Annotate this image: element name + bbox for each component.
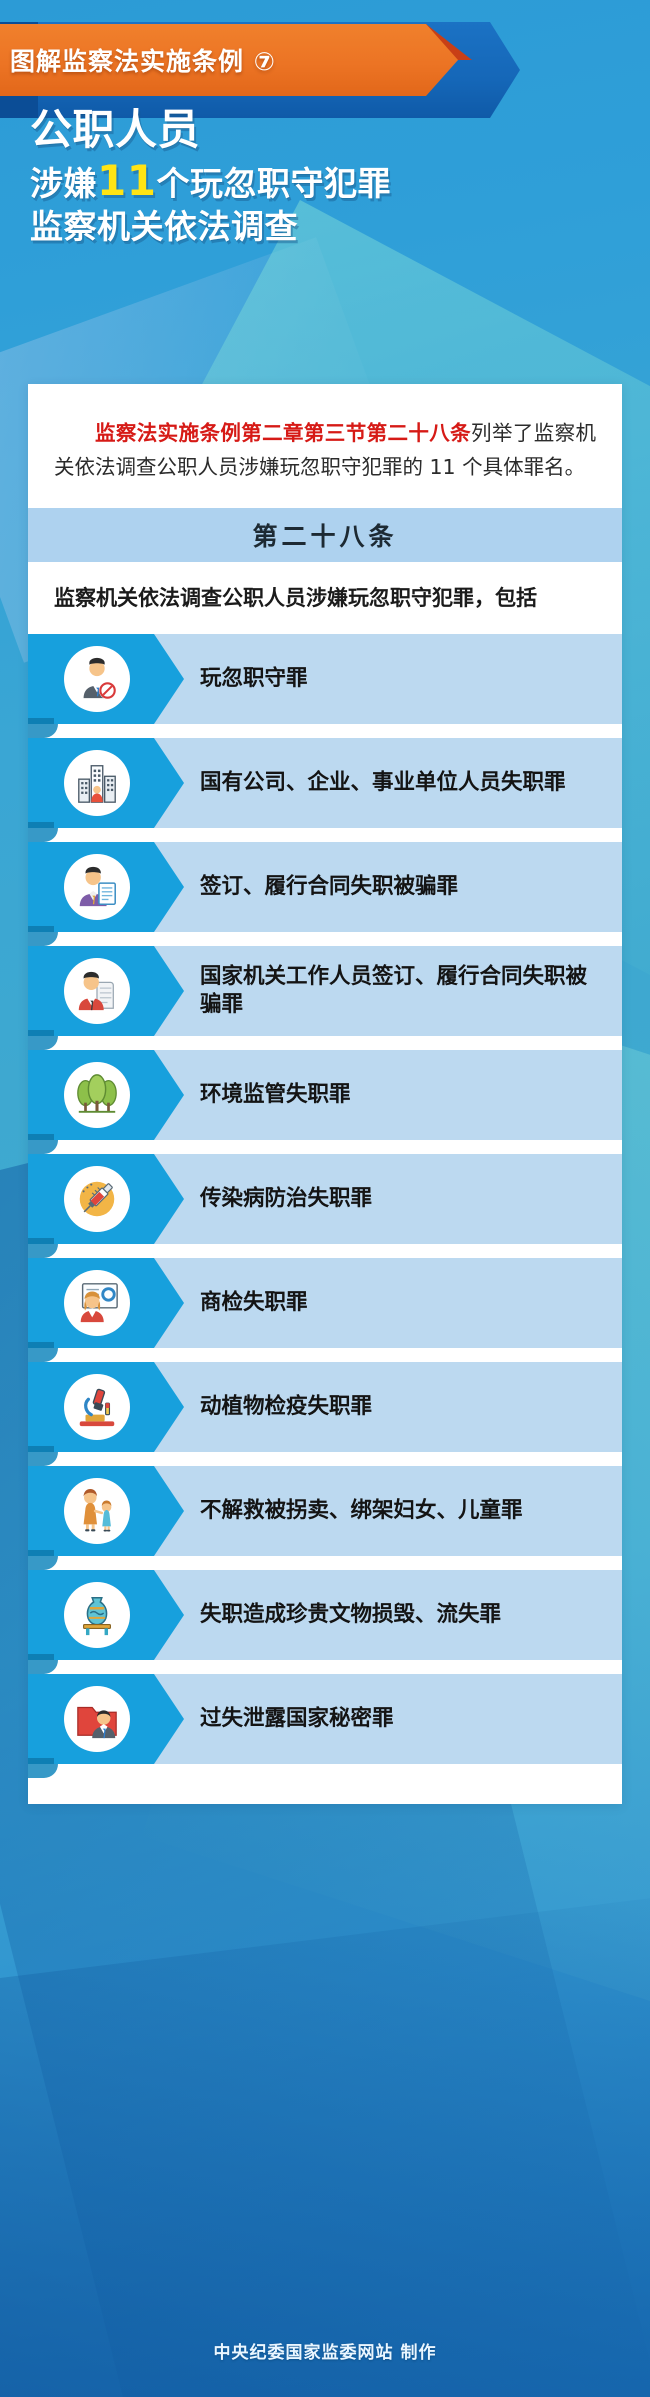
list-item[interactable]: 签订、履行合同失职被骗罪 [28,842,622,932]
list-item-label: 玩忽职守罪 [200,634,608,724]
official-banned-icon [64,646,130,712]
person-document-icon [64,958,130,1024]
headline-line-3: 监察机关依法调查 [30,208,620,246]
list-item-label: 国家机关工作人员签订、履行合同失职被骗罪 [200,946,608,1036]
trees-icon [64,1062,130,1128]
headline-line-2-prefix: 涉嫌 [30,164,97,203]
list-item[interactable]: 动植物检疫失职罪 [28,1362,622,1452]
list-item-label: 失职造成珍贵文物损毁、流失罪 [200,1570,608,1660]
inspector-board-icon [64,1270,130,1336]
list-item-label: 不解救被拐卖、绑架妇女、儿童罪 [200,1466,608,1556]
intro-paragraph: 监察法实施条例第二章第三节第二十八条列举了监察机关依法调查公职人员涉嫌玩忽职守犯… [28,410,622,488]
list-item[interactable]: 失职造成珍贵文物损毁、流失罪 [28,1570,622,1660]
list-item-label: 动植物检疫失职罪 [200,1362,608,1452]
section-header: 第二十八条 [28,508,622,562]
infographic-page: 图解监察法实施条例 ⑦ 公职人员 涉嫌11个玩忽职守犯罪 监察机关依法调查 监察… [0,0,650,2397]
list-item[interactable]: 不解救被拐卖、绑架妇女、儿童罪 [28,1466,622,1556]
list-item-label: 传染病防治失职罪 [200,1154,608,1244]
footer-credit: 中央纪委国家监委网站 制作 [0,2338,650,2363]
headline-line-2-suffix: 个玩忽职守犯罪 [156,164,391,203]
buildings-icon [64,750,130,816]
vase-icon [64,1582,130,1648]
banner-orange-ribbon: 图解监察法实施条例 ⑦ [0,24,458,96]
list-item[interactable]: 环境监管失职罪 [28,1050,622,1140]
woman-child-icon [64,1478,130,1544]
list-item[interactable]: 玩忽职守罪 [28,634,622,724]
headline-line-1: 公职人员 [30,106,620,155]
banner-title: 图解监察法实施条例 ⑦ [0,42,276,78]
headline-count: 11 [97,156,156,205]
offence-list: 玩忽职守罪 国有公司、企业、事业单位人员失职罪 签订、履 [28,634,622,1764]
list-item-label: 环境监管失职罪 [200,1050,608,1140]
syringe-icon [64,1166,130,1232]
list-item[interactable]: 传染病防治失职罪 [28,1154,622,1244]
background-dark-shape-2 [0,1884,650,2397]
person-contract-icon [64,854,130,920]
microscope-icon [64,1374,130,1440]
list-item-label: 国有公司、企业、事业单位人员失职罪 [200,738,608,828]
list-item[interactable]: 过失泄露国家秘密罪 [28,1674,622,1764]
section-header-label: 第二十八条 [252,517,397,553]
list-item-label: 签订、履行合同失职被骗罪 [200,842,608,932]
lead-paragraph: 监察机关依法调查公职人员涉嫌玩忽职守犯罪，包括 [28,562,622,620]
list-item[interactable]: 国家机关工作人员签订、履行合同失职被骗罪 [28,946,622,1036]
secret-folder-icon [64,1686,130,1752]
top-banner: 图解监察法实施条例 ⑦ [0,0,650,118]
list-item-label: 过失泄露国家秘密罪 [200,1674,608,1764]
list-item[interactable]: 国有公司、企业、事业单位人员失职罪 [28,738,622,828]
list-item-label: 商检失职罪 [200,1258,608,1348]
intro-emphasis: 监察法实施条例第二章第三节第二十八条 [95,421,471,445]
content-card: 监察法实施条例第二章第三节第二十八条列举了监察机关依法调查公职人员涉嫌玩忽职守犯… [28,384,622,1804]
headline-block: 公职人员 涉嫌11个玩忽职守犯罪 监察机关依法调查 [30,106,620,247]
headline-line-2: 涉嫌11个玩忽职守犯罪 [30,157,620,206]
list-item[interactable]: 商检失职罪 [28,1258,622,1348]
